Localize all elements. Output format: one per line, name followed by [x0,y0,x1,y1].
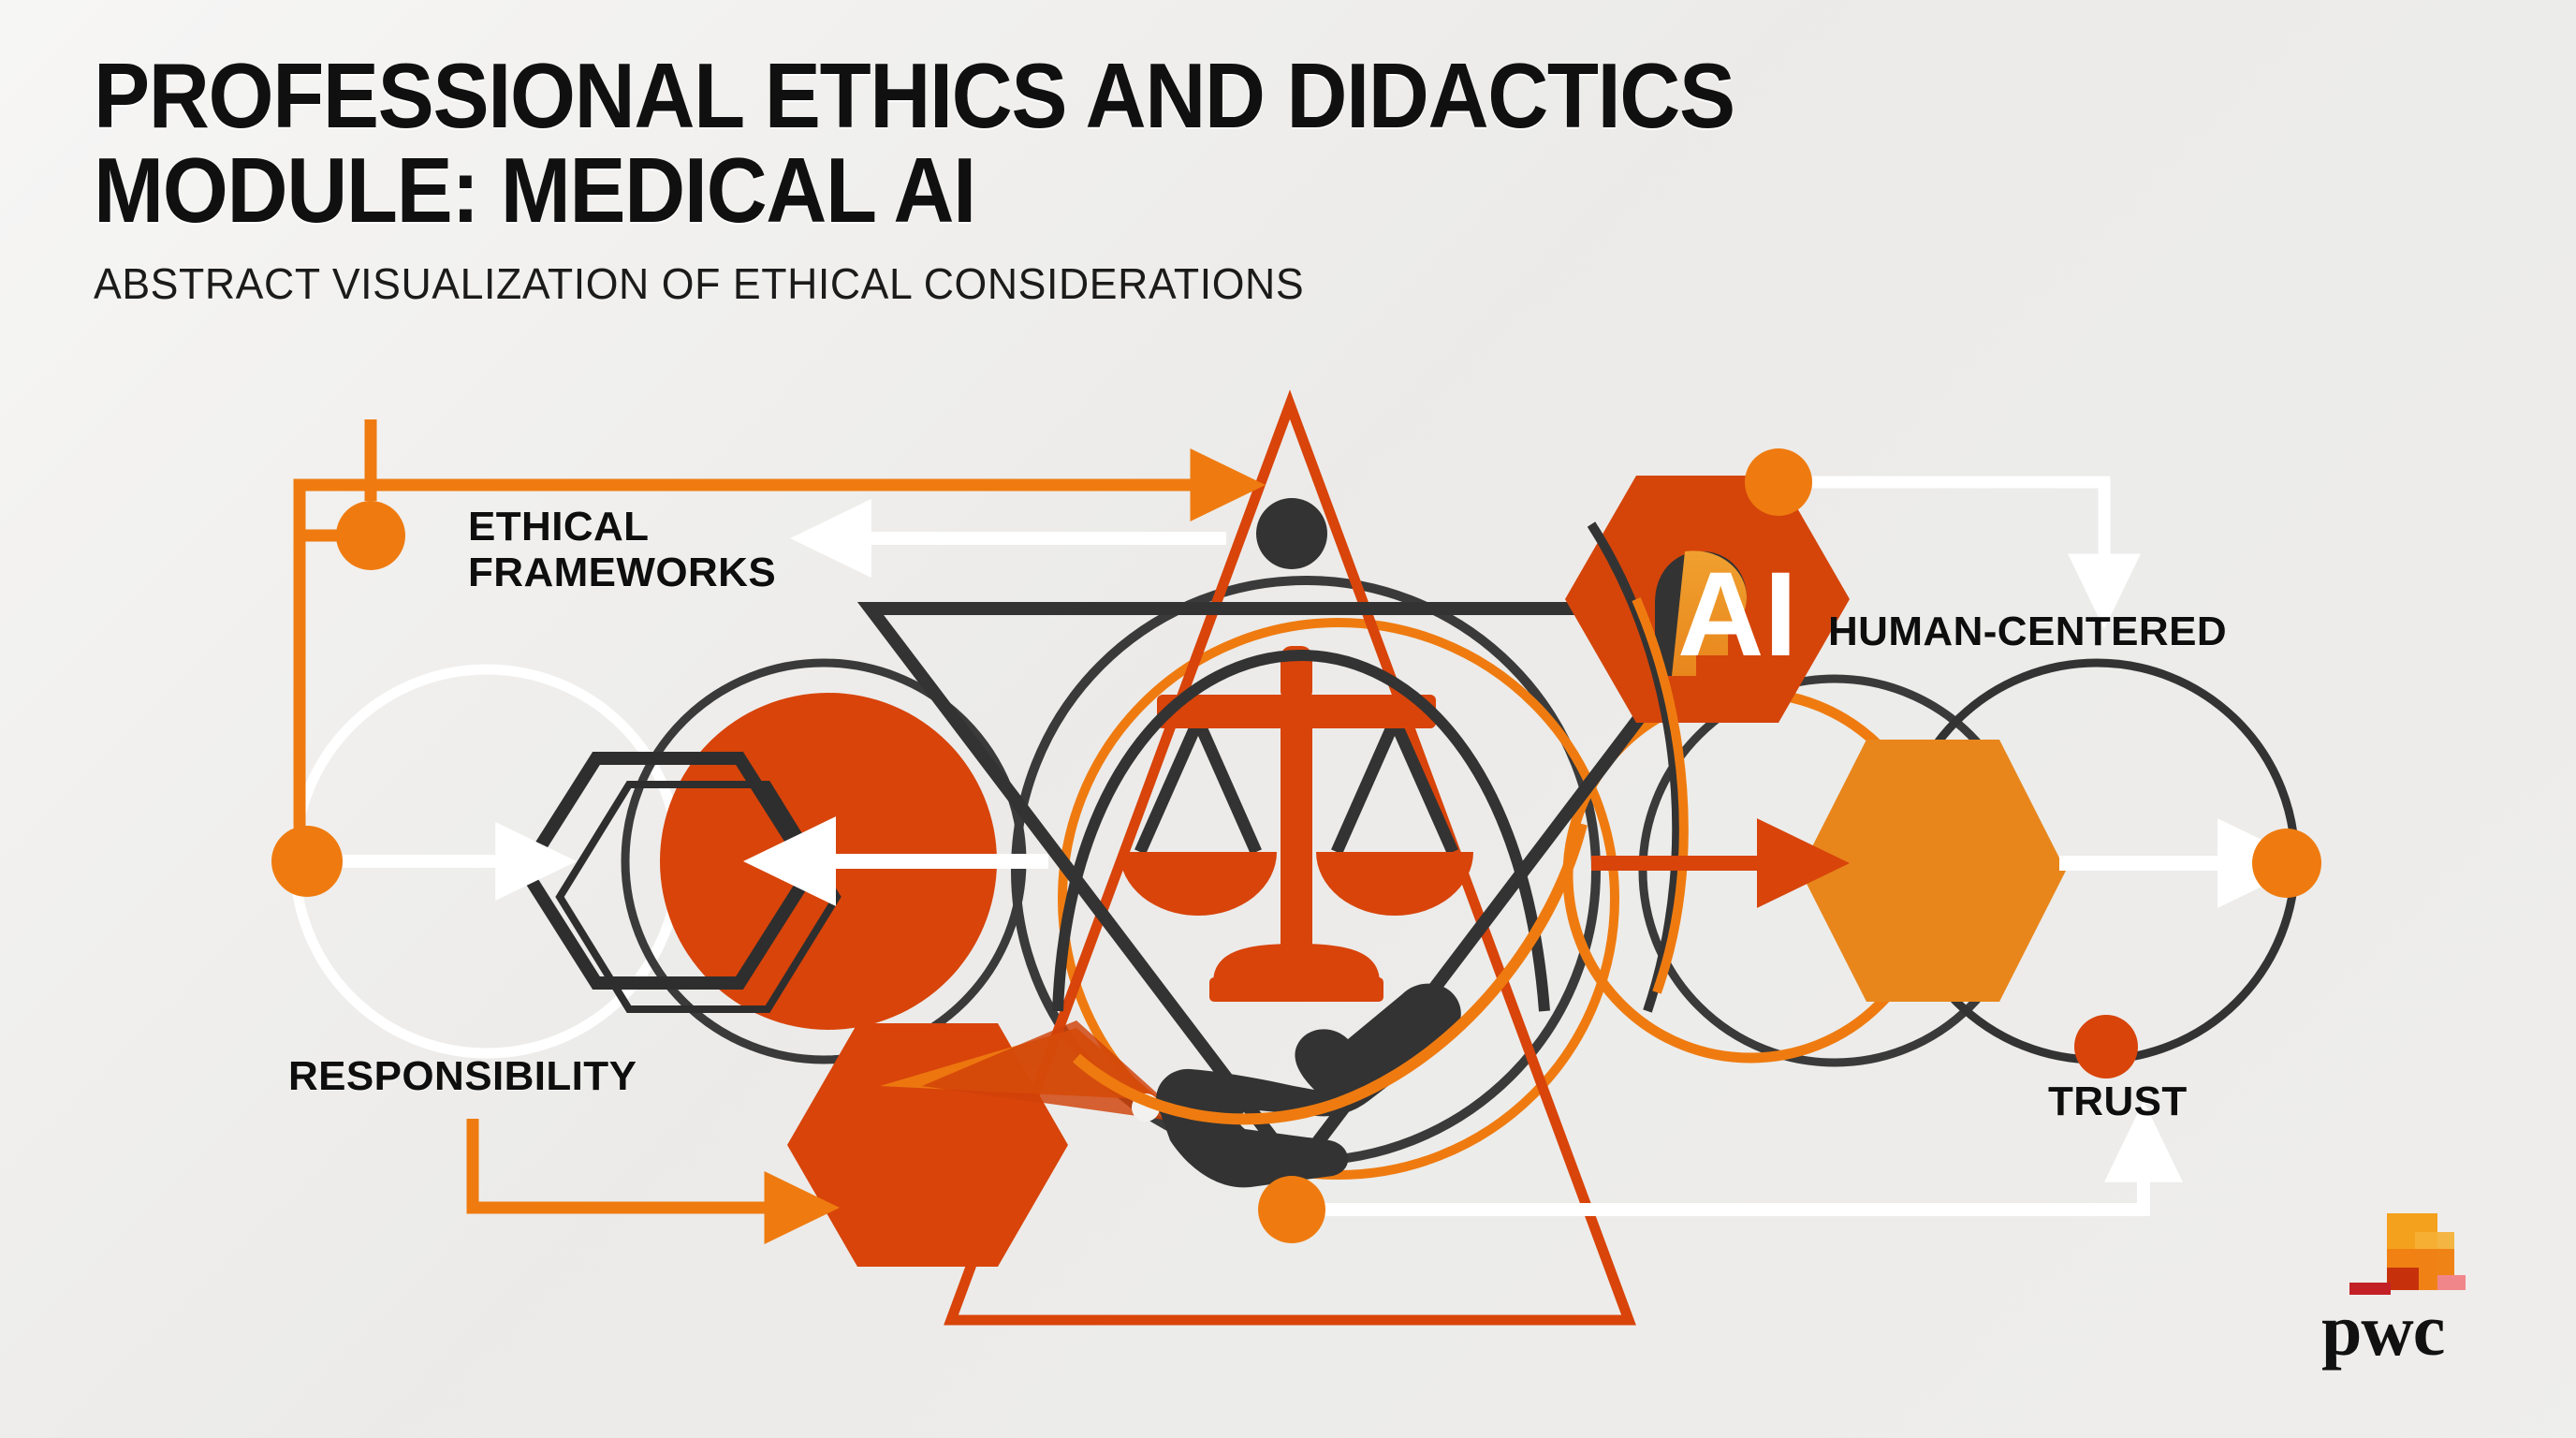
label-ethical-frameworks[interactable]: ETHICAL FRAMEWORKS [468,504,776,596]
ai-badge-label: AI [1677,548,1797,682]
dot-top-right-orange[interactable] [1745,448,1812,516]
label-trust[interactable]: TRUST [2048,1078,2188,1124]
dot-right-orange[interactable] [2252,829,2321,898]
slide-canvas: PROFESSIONAL ETHICS AND DIDACTICSMODULE:… [0,0,2576,1438]
ethics-diagram: AI [0,0,2576,1438]
connector-trust-white-bottom[interactable] [1320,1153,2144,1210]
dot-left-orange[interactable] [271,826,343,897]
connector-responsibility-orange[interactable] [473,1119,791,1208]
connector-human-centered-white[interactable] [1812,482,2104,580]
hexagon-filled-orange-right [1800,740,2066,1002]
pwc-mark-block-5 [2437,1275,2466,1290]
pwc-wordmark: pwc [2321,1294,2444,1367]
dot-center-top-dark [1256,498,1327,569]
dot-trust-orangered[interactable] [2074,1015,2138,1078]
ai-badge[interactable]: AI [1565,476,1850,723]
label-responsibility[interactable]: RESPONSIBILITY [288,1053,637,1099]
dot-center-bottom-orange [1258,1176,1325,1243]
open-hand-icon [1156,984,1461,1188]
pwc-mark-block-4 [2387,1268,2419,1290]
label-human-centered[interactable]: HUMAN-CENTERED [1828,609,2227,654]
